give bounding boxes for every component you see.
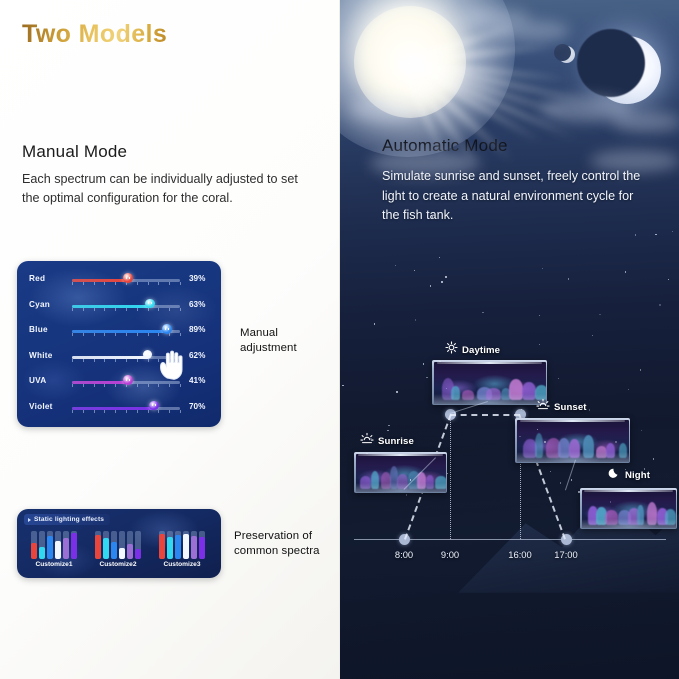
- manual-mode-heading: Manual Mode: [22, 142, 127, 162]
- cloud: [370, 150, 480, 176]
- coral: [665, 509, 676, 524]
- slider-row-blue[interactable]: Blue89%: [17, 321, 221, 342]
- small-moon-icon: [558, 46, 575, 63]
- daylight-cycle-timeline: 8:009:0016:0017:00SunriseDaytimeSunsetNi…: [340, 340, 679, 570]
- star: [432, 216, 433, 217]
- star: [415, 319, 416, 320]
- slider-ticks: [72, 384, 180, 388]
- promo-graphic: Two Models Manual Mode Each spectrum can…: [0, 0, 679, 679]
- slider-row-cyan[interactable]: Cyan63%: [17, 296, 221, 317]
- slider-row-uva[interactable]: UVA41%: [17, 372, 221, 393]
- plateau-segment: [450, 414, 520, 416]
- star: [615, 441, 616, 442]
- effects-header[interactable]: Static lighting effects: [24, 514, 110, 525]
- tank-night: [580, 488, 677, 529]
- hand-cursor-icon: [156, 348, 186, 382]
- stage-name: Daytime: [462, 345, 500, 356]
- cloud: [350, 96, 420, 122]
- stage-label-sunrise: Sunrise: [360, 432, 414, 450]
- preset-name: Customize3: [153, 561, 211, 568]
- coral: [486, 388, 501, 400]
- slider-label: Violet: [29, 402, 53, 411]
- slider-row-white[interactable]: White62%: [17, 347, 221, 368]
- star: [423, 363, 424, 364]
- stage-label-sunset: Sunset: [536, 398, 587, 416]
- coral: [462, 390, 473, 400]
- slider-value: 63%: [189, 300, 205, 309]
- callout-preservation: Preservation of common spectra: [234, 529, 338, 560]
- static-lighting-effects-card[interactable]: Static lighting effects Customize1Custom…: [17, 509, 221, 578]
- cloud: [612, 112, 679, 132]
- star: [374, 323, 375, 324]
- coral: [435, 476, 445, 488]
- preset-name: Customize1: [25, 561, 83, 568]
- automatic-mode-panel: Automatic Mode Simulate sunrise and suns…: [340, 0, 679, 679]
- star: [406, 494, 407, 495]
- slider-row-red[interactable]: Red39%: [17, 270, 221, 291]
- star: [592, 335, 593, 336]
- slider-value: 89%: [189, 325, 205, 334]
- slider-value: 39%: [189, 274, 205, 283]
- manual-mode-description: Each spectrum can be individually adjust…: [22, 170, 314, 208]
- star: [659, 304, 660, 305]
- preset-3[interactable]: Customize3: [153, 531, 211, 573]
- star: [625, 469, 626, 470]
- slider-label: Blue: [29, 325, 48, 334]
- preset-bars: [95, 531, 141, 559]
- stage-name: Sunset: [554, 402, 587, 413]
- coral: [606, 443, 615, 459]
- sunrise-icon: [360, 432, 374, 450]
- star: [655, 234, 656, 235]
- crescent-moon-icon: [593, 36, 661, 104]
- coral: [535, 433, 544, 458]
- coral: [637, 505, 644, 524]
- coral: [451, 386, 460, 401]
- star: [542, 268, 543, 269]
- time-label-900: 9:00: [430, 549, 470, 560]
- star: [395, 265, 396, 266]
- star: [539, 315, 540, 316]
- star: [625, 271, 626, 272]
- star: [441, 281, 442, 282]
- page-title: Two Models: [22, 20, 167, 49]
- star: [426, 377, 427, 378]
- slider-row-violet[interactable]: Violet70%: [17, 398, 221, 419]
- slider-label: UVA: [29, 376, 46, 385]
- star: [454, 412, 455, 413]
- spectrum-slider-card: Red39%Cyan63%Blue89%White62%UVA41%Violet…: [17, 261, 221, 427]
- manual-mode-panel: Two Models Manual Mode Each spectrum can…: [0, 0, 340, 679]
- star: [568, 278, 569, 279]
- slider-label: Cyan: [29, 300, 50, 309]
- star: [635, 234, 636, 235]
- star: [439, 361, 440, 362]
- star: [388, 425, 389, 426]
- slider-ticks: [72, 410, 180, 414]
- chevron-right-icon: [28, 518, 31, 522]
- tank-scene: [517, 420, 629, 462]
- slider-thumb-cyan[interactable]: [145, 299, 155, 309]
- slider-value: 62%: [189, 351, 205, 360]
- slider-value: 70%: [189, 402, 205, 411]
- star: [445, 276, 446, 277]
- coral: [647, 502, 657, 525]
- cloud: [460, 8, 530, 26]
- slider-thumb-violet[interactable]: [149, 401, 159, 411]
- star: [644, 468, 645, 469]
- time-label-1600: 16:00: [500, 549, 540, 560]
- star: [599, 314, 600, 315]
- callout-manual-adjustment: Manual adjustment: [240, 326, 336, 357]
- sun-icon: [445, 341, 458, 359]
- coral: [569, 439, 580, 458]
- star: [482, 312, 483, 313]
- coral: [596, 446, 607, 459]
- stage-name: Sunrise: [378, 436, 414, 447]
- coral: [360, 476, 371, 489]
- star: [672, 231, 673, 232]
- slider-thumb-uva[interactable]: [123, 375, 133, 385]
- slider-value: 41%: [189, 376, 205, 385]
- slider-thumb-blue[interactable]: [162, 324, 172, 334]
- preset-name: Customize2: [89, 561, 147, 568]
- slider-label: Red: [29, 274, 45, 283]
- moon-icon: [608, 466, 621, 484]
- tank-scene: [434, 362, 546, 404]
- stage-label-daytime: Daytime: [445, 341, 500, 359]
- coral: [619, 443, 628, 458]
- slider-thumb-red[interactable]: [123, 273, 133, 283]
- slider-ticks: [72, 282, 180, 286]
- preset-bars: [159, 531, 205, 559]
- star: [589, 409, 590, 410]
- tank-daytime: [432, 360, 547, 405]
- coral: [583, 435, 594, 458]
- star: [370, 438, 371, 439]
- star: [668, 279, 669, 280]
- coral: [605, 510, 618, 525]
- star: [574, 194, 575, 195]
- sunset-icon: [536, 398, 550, 416]
- slider-ticks: [72, 333, 180, 337]
- tank-scene: [582, 490, 676, 528]
- time-label-800: 8:00: [384, 549, 424, 560]
- slider-ticks: [72, 308, 180, 312]
- star: [640, 369, 641, 370]
- guide-line: [450, 420, 451, 539]
- time-label-1700: 17:00: [546, 549, 586, 560]
- preset-bars: [31, 531, 77, 559]
- effects-header-label: Static lighting effects: [34, 516, 104, 523]
- leader-line: [565, 460, 576, 490]
- star: [439, 257, 440, 258]
- slider-label: White: [29, 351, 53, 360]
- stage-name: Night: [625, 470, 650, 481]
- star: [410, 479, 411, 480]
- coral: [509, 379, 523, 400]
- preset-2[interactable]: Customize2: [89, 531, 147, 573]
- preset-1[interactable]: Customize1: [25, 531, 83, 573]
- star: [430, 285, 431, 286]
- tank-sunset: [515, 418, 630, 463]
- star: [414, 270, 415, 271]
- coral: [426, 475, 434, 489]
- star: [544, 441, 545, 442]
- coral: [371, 471, 379, 489]
- star: [396, 391, 397, 392]
- cloud: [590, 150, 679, 172]
- star: [578, 491, 579, 492]
